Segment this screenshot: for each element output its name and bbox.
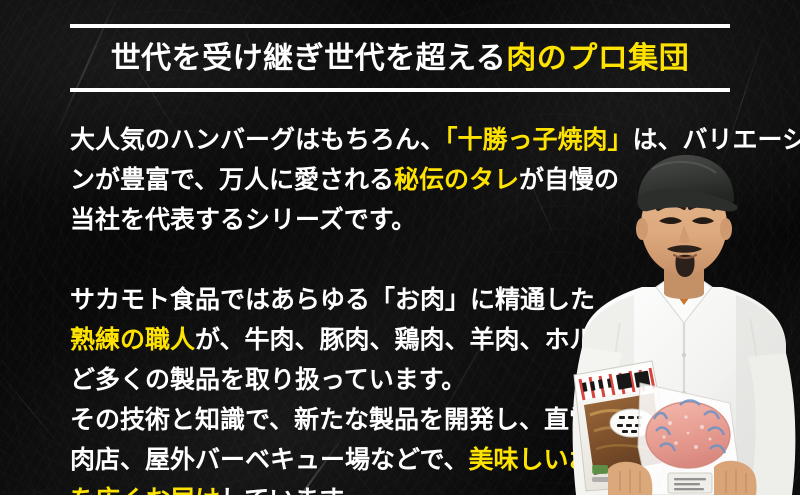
ear-right bbox=[720, 218, 732, 240]
text-run: しています。 bbox=[220, 485, 367, 495]
text-run-highlight: を広くお届け bbox=[70, 485, 220, 495]
text-run: ンが豊富で、万人に愛される bbox=[70, 165, 394, 194]
text-run-highlight: 熟練の職人 bbox=[70, 325, 195, 354]
page-title-highlight: 肉のプロ集団 bbox=[506, 41, 689, 76]
page-title: 世代を受け継ぎ世代を超える肉のプロ集団 bbox=[0, 28, 800, 88]
butcher-portrait-illustration bbox=[564, 147, 800, 495]
page-title-plain: 世代を受け継ぎ世代を超える bbox=[111, 41, 507, 76]
shirt-button bbox=[682, 353, 686, 357]
text-run: 大人気のハンバーグはもちろん、 bbox=[70, 125, 445, 154]
header-block: 世代を受け継ぎ世代を超える肉のプロ集団 bbox=[0, 24, 800, 92]
header-rule-bottom bbox=[70, 88, 730, 92]
ear-left bbox=[636, 218, 648, 240]
scratch-line bbox=[0, 364, 69, 457]
text-run-highlight: 秘伝のタレ bbox=[394, 165, 519, 194]
text-run: 肉店、屋外バーベキュー場などで、 bbox=[70, 445, 469, 474]
butcher-portrait-photo bbox=[564, 147, 800, 495]
